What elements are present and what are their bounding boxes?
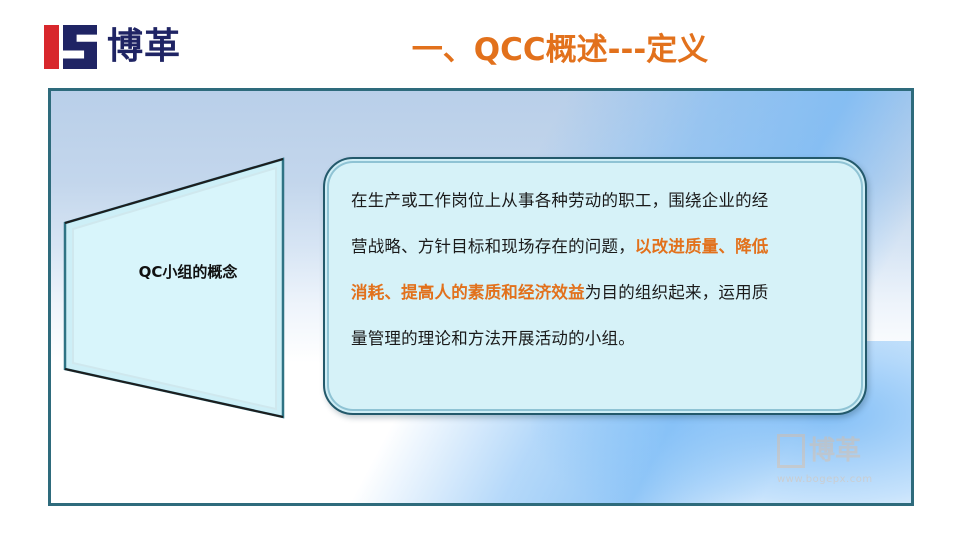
concept-trapezoid: QC小组的概念 — [55, 143, 335, 433]
definition-box: 在生产或工作岗位上从事各种劳动的职工，围绕企业的经 营战略、方针目标和现场存在的… — [323, 157, 867, 415]
slide-canvas: 博革 一、QCC概述---定义 QC小组的概念 在生产或工作岗位上从事各种劳动的… — [0, 0, 960, 540]
page-title: 一、QCC概述---定义 — [0, 24, 960, 69]
definition-line-4: 量管理的理论和方法开展活动的小组。 — [351, 316, 843, 362]
definition-line-1: 在生产或工作岗位上从事各种劳动的职工，围绕企业的经 — [351, 178, 843, 224]
watermark-logo: 博革 — [777, 431, 897, 471]
definition-line-2: 营战略、方针目标和现场存在的问题，以改进质量、降低 — [351, 224, 843, 270]
definition-line-3-plain: 为目的组织起来，运用质 — [585, 283, 769, 302]
definition-text: 在生产或工作岗位上从事各种劳动的职工，围绕企业的经 营战略、方针目标和现场存在的… — [351, 178, 843, 362]
definition-line-3-highlight: 消耗、提高人的素质和经济效益 — [351, 283, 585, 302]
concept-trapezoid-label: QC小组的概念 — [73, 261, 303, 282]
definition-line-2-highlight: 以改进质量、降低 — [635, 237, 769, 256]
watermark-url: www.bogepx.com — [777, 474, 897, 485]
definition-line-3: 消耗、提高人的素质和经济效益为目的组织起来，运用质 — [351, 270, 843, 316]
content-panel: QC小组的概念 在生产或工作岗位上从事各种劳动的职工，围绕企业的经 营战略、方针… — [48, 88, 914, 506]
definition-line-2-plain: 营战略、方针目标和现场存在的问题， — [351, 237, 635, 256]
watermark: 博革 www.bogepx.com — [777, 431, 897, 497]
watermark-box-icon — [777, 434, 805, 468]
watermark-brand-text: 博革 — [809, 438, 861, 464]
concept-trapezoid-shape — [55, 143, 335, 433]
